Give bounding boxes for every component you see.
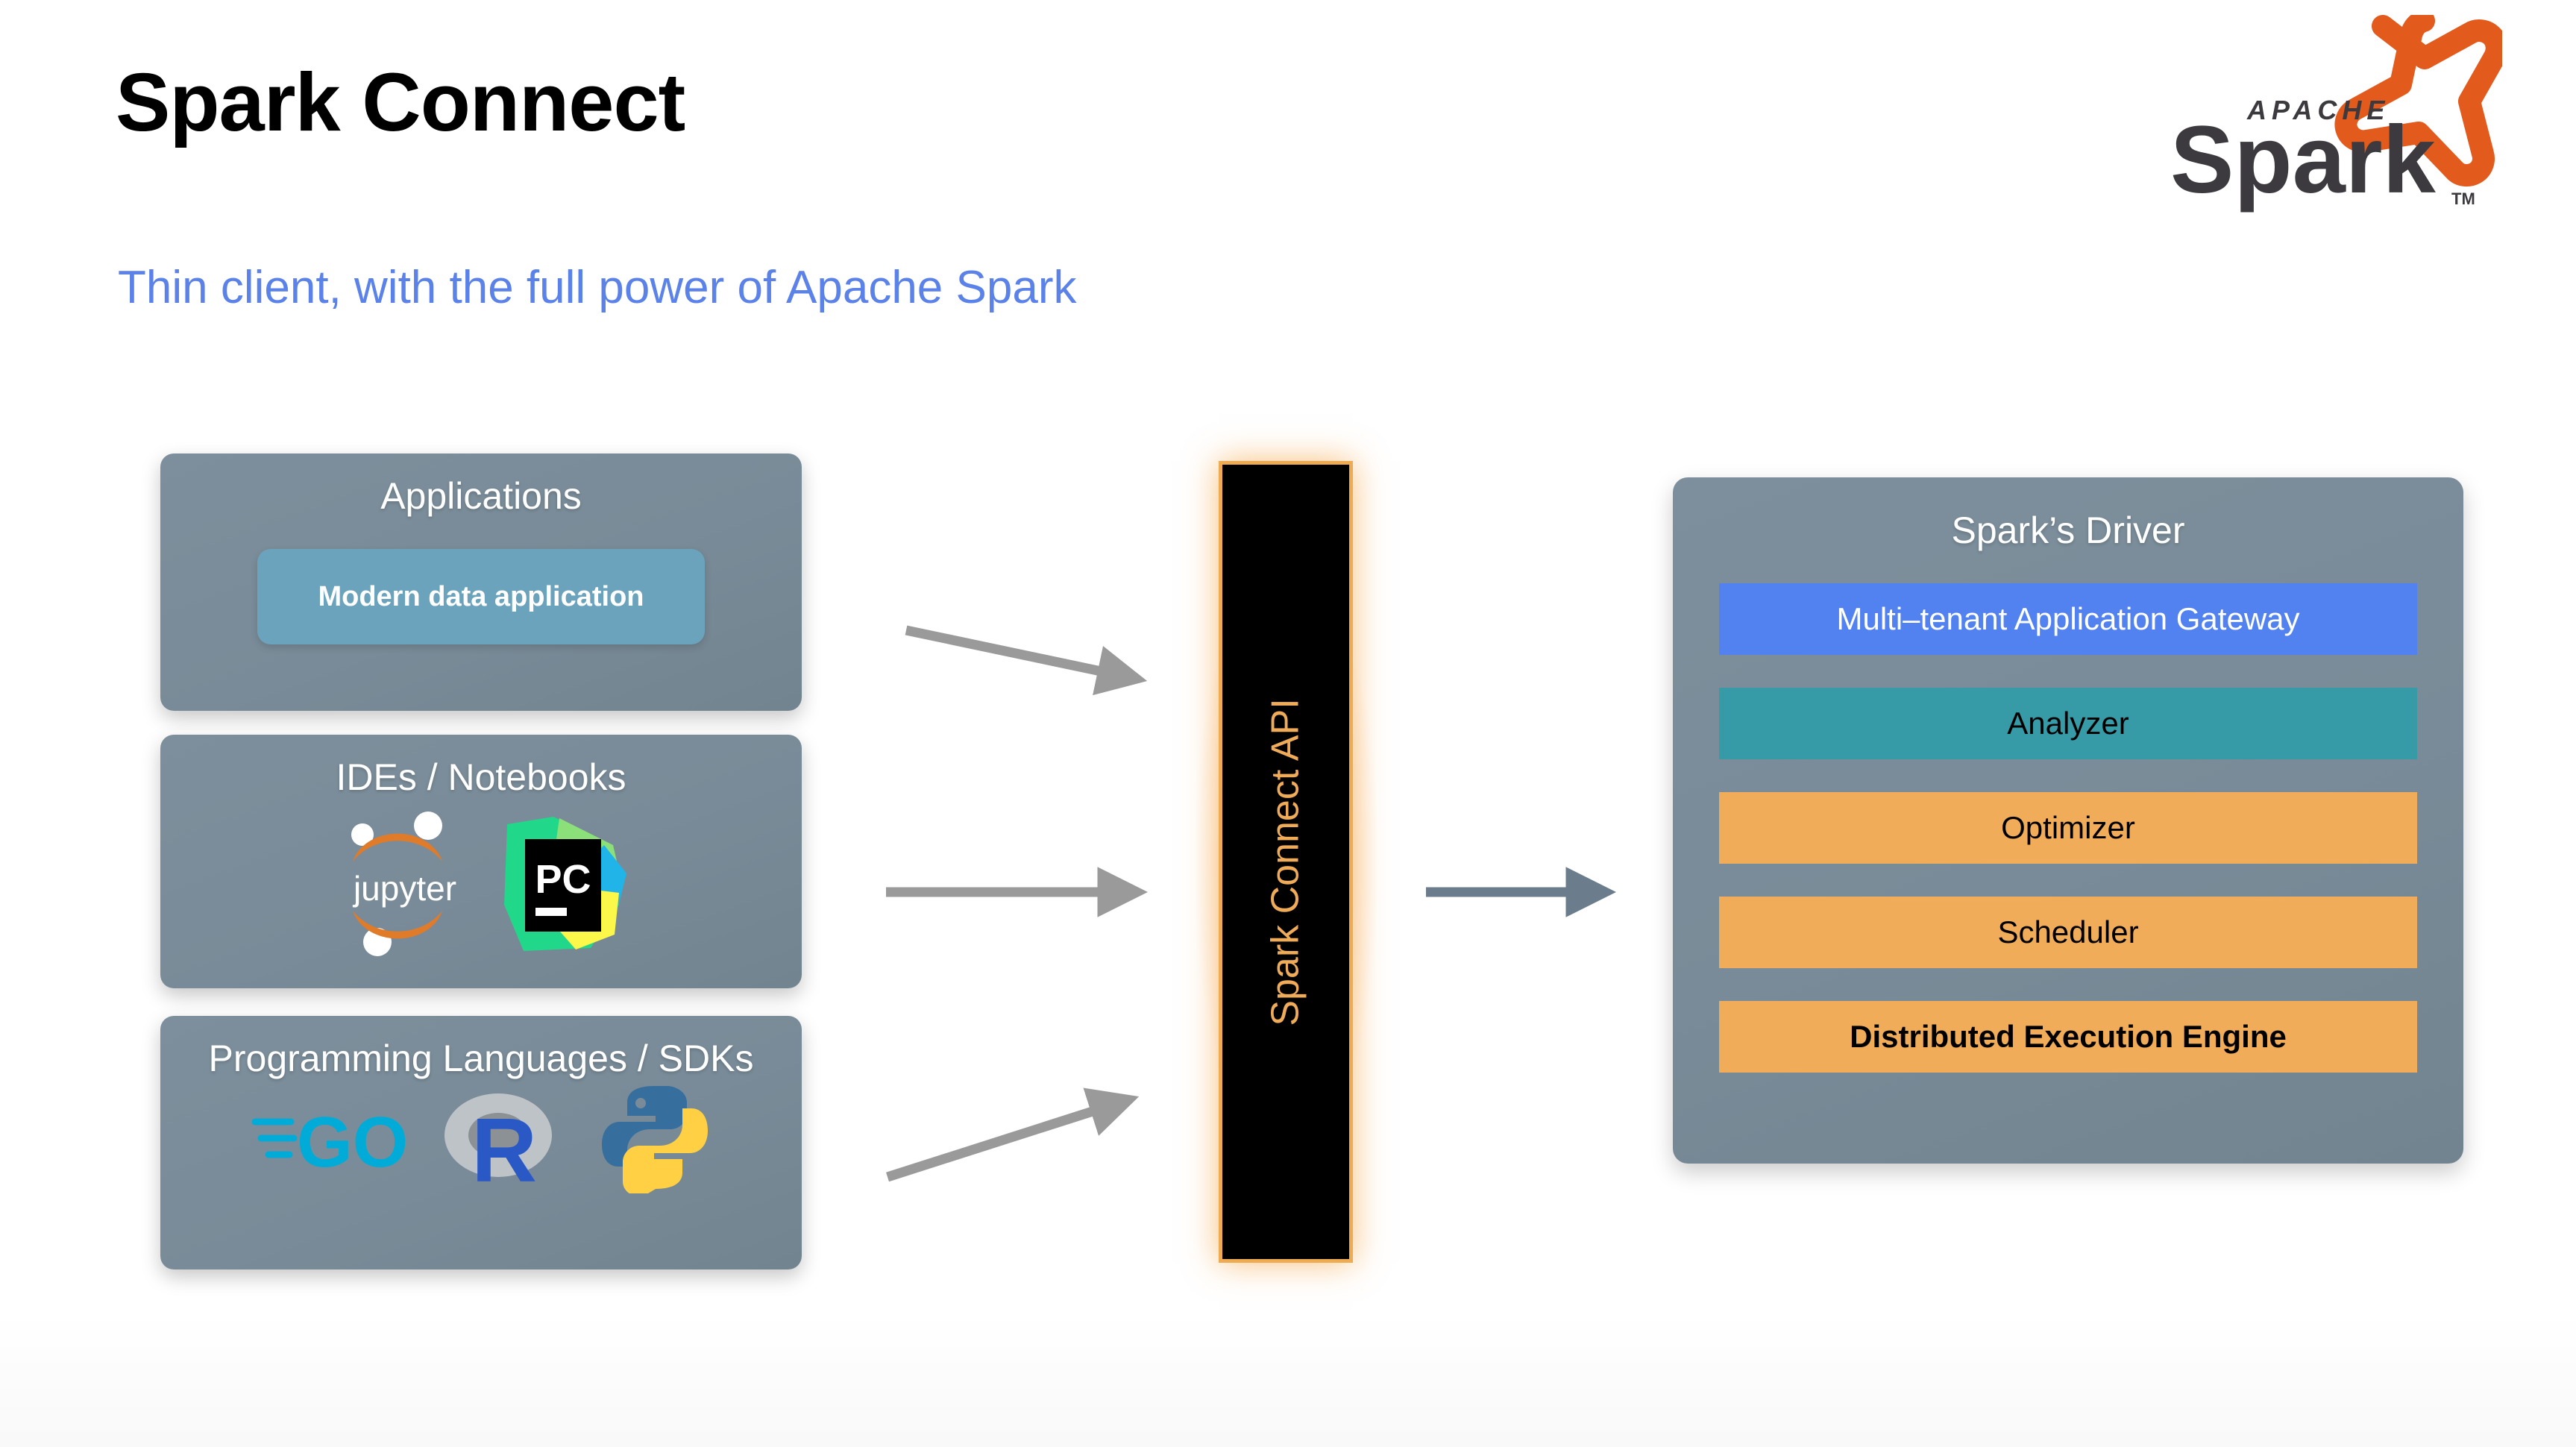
arrow-applications-to-api (906, 630, 1119, 675)
page-title: Spark Connect (116, 60, 685, 146)
spark-driver-panel[interactable]: Spark’s Driver Multi–tenant Application … (1673, 477, 2463, 1164)
driver-row-scheduler[interactable]: Scheduler (1719, 897, 2417, 968)
svg-text:GO: GO (297, 1102, 408, 1182)
client-box-title: Applications (160, 474, 802, 518)
apache-spark-logo: APACHE Spark TM (2129, 15, 2502, 216)
python-logo (599, 1082, 711, 1197)
driver-row-optimizer[interactable]: Optimizer (1719, 792, 2417, 864)
client-box-ides-notebooks[interactable]: IDEs / Notebooks jupyter (160, 735, 802, 988)
logo-wordmark: Spark (2170, 107, 2437, 213)
go-logo: GO (252, 1089, 409, 1190)
svg-text:PC: PC (535, 857, 591, 902)
page-subtitle: Thin client, with the full power of Apac… (118, 263, 1076, 313)
modern-data-application-chip[interactable]: Modern data application (257, 549, 705, 644)
driver-row-analyzer[interactable]: Analyzer (1719, 688, 2417, 759)
svg-text:R: R (471, 1099, 536, 1193)
arrow-languages-to-api (888, 1105, 1111, 1177)
language-logo-row: GO R (160, 1082, 802, 1197)
driver-row-gateway[interactable]: Multi–tenant Application Gateway (1719, 583, 2417, 655)
pycharm-logo: PC (501, 815, 628, 957)
jupyter-logo: jupyter (334, 809, 476, 962)
spark-connect-api-label: Spark Connect API (1263, 698, 1308, 1026)
client-box-title: Programming Languages / SDKs (160, 1037, 802, 1080)
svg-text:jupyter: jupyter (352, 869, 456, 908)
ide-logo-row: jupyter PC (160, 809, 802, 962)
driver-panel-title: Spark’s Driver (1719, 509, 2417, 552)
slide-canvas: Spark Connect Thin client, with the full… (0, 0, 2576, 1447)
spark-connect-api-bar[interactable]: Spark Connect API (1219, 461, 1353, 1263)
client-box-title: IDEs / Notebooks (160, 756, 802, 799)
driver-row-distributed-execution-engine[interactable]: Distributed Execution Engine (1719, 1001, 2417, 1073)
client-box-applications[interactable]: Applications Modern data application (160, 453, 802, 711)
r-logo: R (439, 1082, 569, 1197)
bottom-fade (0, 1313, 2576, 1447)
client-box-programming-languages[interactable]: Programming Languages / SDKs GO (160, 1016, 802, 1269)
logo-trademark: TM (2451, 189, 2475, 208)
